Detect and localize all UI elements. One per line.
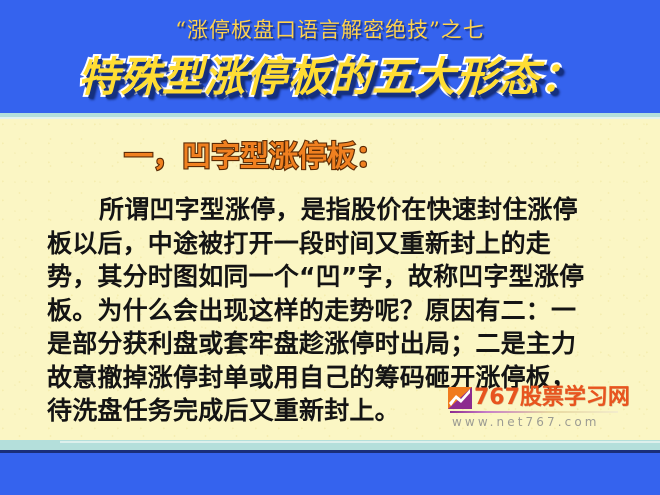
slide-footer (0, 453, 660, 495)
section-heading: 一，凹字型涨停板： (124, 138, 385, 174)
logo-underline (450, 411, 618, 413)
presentation-slide: “涨停板盘口语言解密绝技”之七 特殊型涨停板的五大形态： 一，凹字型涨停板： 所… (0, 0, 660, 495)
slide-header: “涨停板盘口语言解密绝技”之七 特殊型涨停板的五大形态： (0, 0, 660, 113)
slide-subtitle: “涨停板盘口语言解密绝技”之七 (0, 17, 660, 43)
slide-main-title: 特殊型涨停板的五大形态： (0, 52, 660, 102)
chart-mark-icon (448, 387, 472, 409)
logo-name-row: 767股票学习网 (448, 386, 630, 410)
logo-site-name: 767股票学习网 (474, 386, 630, 410)
logo-site-url: www.net767.com (452, 414, 600, 430)
site-logo[interactable]: 767股票学习网 www.net767.com (448, 386, 620, 432)
bottom-divider-highlight (60, 441, 660, 443)
